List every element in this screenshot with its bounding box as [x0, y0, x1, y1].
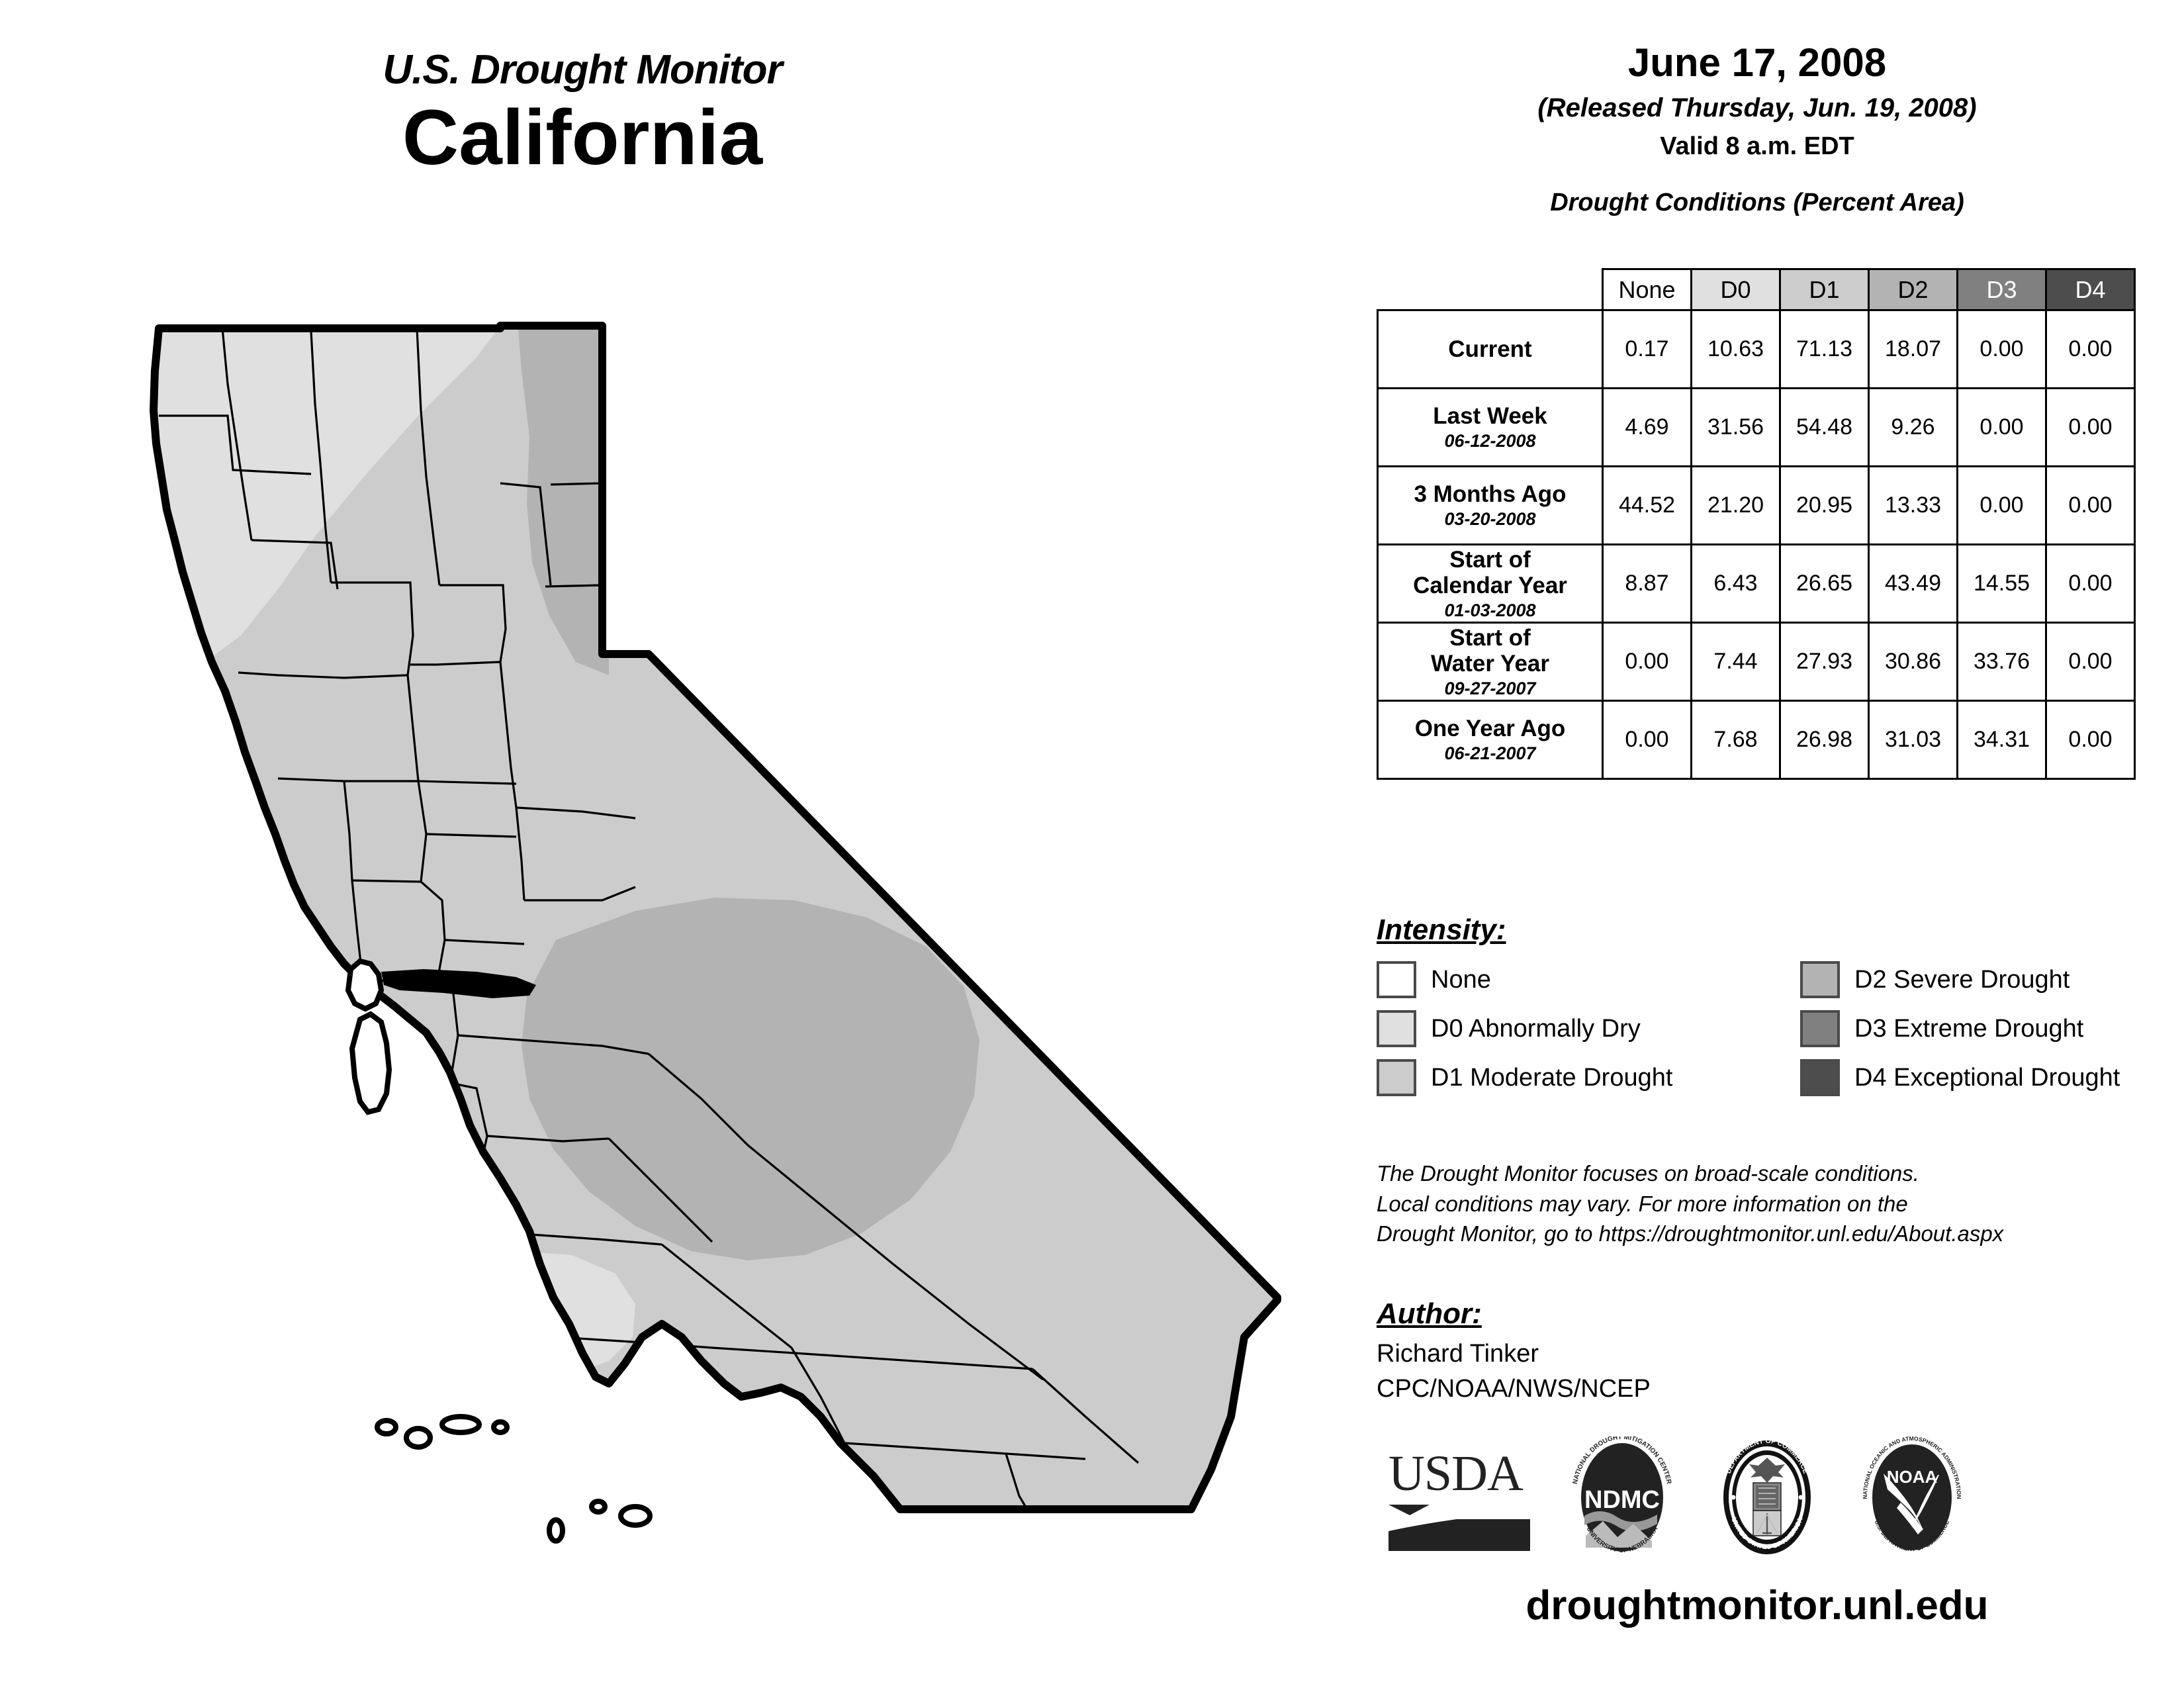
cell-d2: 43.49	[1869, 545, 1958, 623]
legend-label: D0 Abnormally Dry	[1431, 1015, 1641, 1043]
legend-grid: NoneD2 Severe DroughtD0 Abnormally DryD3…	[1377, 961, 2158, 1096]
disclaimer-line-1: The Drought Monitor focuses on broad-sca…	[1377, 1158, 2158, 1189]
legend-item: D1 Moderate Drought	[1377, 1059, 1800, 1096]
noaa-logo-svg: NOAA NATIONAL OCEANIC AND ATMOSPHERIC AD…	[1854, 1436, 1970, 1559]
cell-d2: 18.07	[1869, 310, 1958, 389]
intensity-legend: Intensity: NoneD2 Severe DroughtD0 Abnor…	[1377, 914, 2158, 1096]
cell-d0: 7.44	[1692, 623, 1780, 701]
legend-label: D2 Severe Drought	[1854, 966, 2070, 994]
cell-d1: 26.65	[1780, 545, 1869, 623]
row-date: 06-21-2007	[1379, 743, 1602, 763]
disclaimer-text: The Drought Monitor focuses on broad-sca…	[1377, 1158, 2158, 1249]
table-column-header-d2: D2	[1869, 269, 1958, 310]
legend-swatch	[1800, 961, 1840, 998]
site-url[interactable]: droughtmonitor.unl.edu	[1377, 1582, 2138, 1629]
disclaimer-line-2: Local conditions may vary. For more info…	[1377, 1189, 2158, 1219]
row-label: Last Week06-12-2008	[1378, 389, 1603, 467]
usda-logo-svg: USDA	[1383, 1438, 1535, 1558]
agency-logos: USDA NDMC NAT	[1377, 1436, 2158, 1562]
cell-d2: 9.26	[1869, 389, 1958, 467]
cell-d1: 20.95	[1780, 467, 1869, 545]
cell-d4: 0.00	[2046, 389, 2135, 467]
table-caption: Drought Conditions (Percent Area)	[1377, 189, 2138, 217]
author-title: Author:	[1377, 1297, 1482, 1331]
legend-label: D1 Moderate Drought	[1431, 1064, 1672, 1092]
disclaimer-line-3: Drought Monitor, go to https://droughtmo…	[1377, 1219, 2158, 1249]
map-svg	[79, 278, 1337, 1556]
table-column-header-d0: D0	[1692, 269, 1780, 310]
cell-d3: 33.76	[1958, 623, 2046, 701]
legend-item: D3 Extreme Drought	[1800, 1010, 2158, 1047]
legend-item: D4 Exceptional Drought	[1800, 1059, 2158, 1096]
legend-label: D3 Extreme Drought	[1854, 1015, 2083, 1043]
table-header: NoneD0D1D2D3D4	[1378, 269, 2135, 310]
cell-d4: 0.00	[2046, 545, 2135, 623]
cell-d0: 6.43	[1692, 545, 1780, 623]
california-drought-map[interactable]	[79, 278, 1337, 1556]
state-title: California	[185, 99, 979, 177]
cell-d2: 31.03	[1869, 701, 1958, 779]
author-organization: CPC/NOAA/NWS/NCEP	[1377, 1375, 2158, 1403]
legend-swatch	[1377, 1010, 1416, 1047]
cell-d2: 30.86	[1869, 623, 1958, 701]
cell-d4: 0.00	[2046, 701, 2135, 779]
cell-d0: 10.63	[1692, 310, 1780, 389]
row-date: 09-27-2007	[1379, 679, 1602, 698]
legend-swatch	[1800, 1059, 1840, 1096]
usda-logo: USDA	[1383, 1438, 1535, 1561]
table-column-header-d3: D3	[1958, 269, 2046, 310]
cell-d4: 0.00	[2046, 310, 2135, 389]
table-body: Current0.1710.6371.1318.070.000.00Last W…	[1378, 310, 2135, 779]
table-row: One Year Ago06-21-20070.007.6826.9831.03…	[1378, 701, 2135, 779]
legend-swatch	[1377, 961, 1416, 998]
row-label: Start ofCalendar Year01-03-2008	[1378, 545, 1603, 623]
cell-none: 0.00	[1603, 701, 1692, 779]
row-date: 03-20-2008	[1379, 509, 1602, 529]
table-row: Current0.1710.6371.1318.070.000.00	[1378, 310, 2135, 389]
row-label: 3 Months Ago03-20-2008	[1378, 467, 1603, 545]
map-date: June 17, 2008	[1377, 40, 2138, 85]
table-header-row: NoneD0D1D2D3D4	[1378, 269, 2135, 310]
table-column-header-none: None	[1603, 269, 1692, 310]
cell-d1: 26.98	[1780, 701, 1869, 779]
cell-d1: 54.48	[1780, 389, 1869, 467]
cell-d1: 27.93	[1780, 623, 1869, 701]
table-row: 3 Months Ago03-20-200844.5221.2020.9513.…	[1378, 467, 2135, 545]
legend-label: D4 Exceptional Drought	[1854, 1064, 2120, 1092]
svg-text:NOAA: NOAA	[1887, 1467, 1938, 1487]
valid-time: Valid 8 a.m. EDT	[1377, 132, 2138, 161]
cell-d3: 0.00	[1958, 310, 2046, 389]
cell-d3: 0.00	[1958, 467, 2046, 545]
cell-d0: 21.20	[1692, 467, 1780, 545]
cell-d3: 34.31	[1958, 701, 2046, 779]
ndmc-logo-svg: NDMC NATIONAL DROUGHT MITIGATION CENTER …	[1565, 1436, 1680, 1559]
legend-item: D0 Abnormally Dry	[1377, 1010, 1800, 1047]
ndmc-logo: NDMC NATIONAL DROUGHT MITIGATION CENTER …	[1565, 1436, 1680, 1562]
cell-none: 44.52	[1603, 467, 1692, 545]
author-name: Richard Tinker	[1377, 1340, 2158, 1368]
author-block: Author: Richard Tinker CPC/NOAA/NWS/NCEP	[1377, 1297, 2158, 1403]
table-row: Last Week06-12-20084.6931.5654.489.260.0…	[1378, 389, 2135, 467]
product-title: U.S. Drought Monitor	[185, 46, 979, 93]
right-column: June 17, 2008 (Released Thursday, Jun. 1…	[1377, 40, 2158, 217]
doc-logo-svg: DEPARTMENT OF COMMERCE UNITED STATES OF …	[1709, 1436, 1825, 1559]
title-block: U.S. Drought Monitor California	[185, 46, 979, 177]
table-column-header-d1: D1	[1780, 269, 1869, 310]
cell-d4: 0.00	[2046, 623, 2135, 701]
svg-text:NDMC: NDMC	[1584, 1486, 1660, 1514]
table-row: Start ofWater Year09-27-20070.007.4427.9…	[1378, 623, 2135, 701]
cell-none: 0.00	[1603, 623, 1692, 701]
cell-d0: 7.68	[1692, 701, 1780, 779]
legend-title: Intensity:	[1377, 914, 1506, 947]
svg-text:USDA: USDA	[1388, 1446, 1524, 1501]
cell-none: 8.87	[1603, 545, 1692, 623]
cell-d2: 13.33	[1869, 467, 1958, 545]
row-date: 06-12-2008	[1379, 431, 1602, 451]
row-label: One Year Ago06-21-2007	[1378, 701, 1603, 779]
date-block: June 17, 2008 (Released Thursday, Jun. 1…	[1377, 40, 2138, 161]
cell-none: 0.17	[1603, 310, 1692, 389]
cell-none: 4.69	[1603, 389, 1692, 467]
legend-item: D2 Severe Drought	[1800, 961, 2158, 998]
cell-d1: 71.13	[1780, 310, 1869, 389]
release-date: (Released Thursday, Jun. 19, 2008)	[1377, 93, 2138, 123]
row-label: Current	[1378, 310, 1603, 389]
cell-d4: 0.00	[2046, 467, 2135, 545]
legend-swatch	[1377, 1059, 1416, 1096]
channel-islands	[377, 1417, 650, 1541]
cell-d0: 31.56	[1692, 389, 1780, 467]
table-corner-cell	[1378, 269, 1603, 310]
legend-label: None	[1431, 966, 1491, 994]
row-date: 01-03-2008	[1379, 600, 1602, 620]
department-of-commerce-logo: DEPARTMENT OF COMMERCE UNITED STATES OF …	[1709, 1436, 1825, 1562]
table-row: Start ofCalendar Year01-03-20088.876.432…	[1378, 545, 2135, 623]
drought-monitor-page: U.S. Drought Monitor California	[0, 0, 2184, 1688]
noaa-logo: NOAA NATIONAL OCEANIC AND ATMOSPHERIC AD…	[1854, 1436, 1970, 1562]
cell-d3: 14.55	[1958, 545, 2046, 623]
drought-conditions-table: NoneD0D1D2D3D4 Current0.1710.6371.1318.0…	[1377, 268, 2134, 780]
row-label: Start ofWater Year09-27-2007	[1378, 623, 1603, 701]
legend-swatch	[1800, 1010, 1840, 1047]
cell-d3: 0.00	[1958, 389, 2046, 467]
legend-item: None	[1377, 961, 1800, 998]
table-column-header-d4: D4	[2046, 269, 2135, 310]
